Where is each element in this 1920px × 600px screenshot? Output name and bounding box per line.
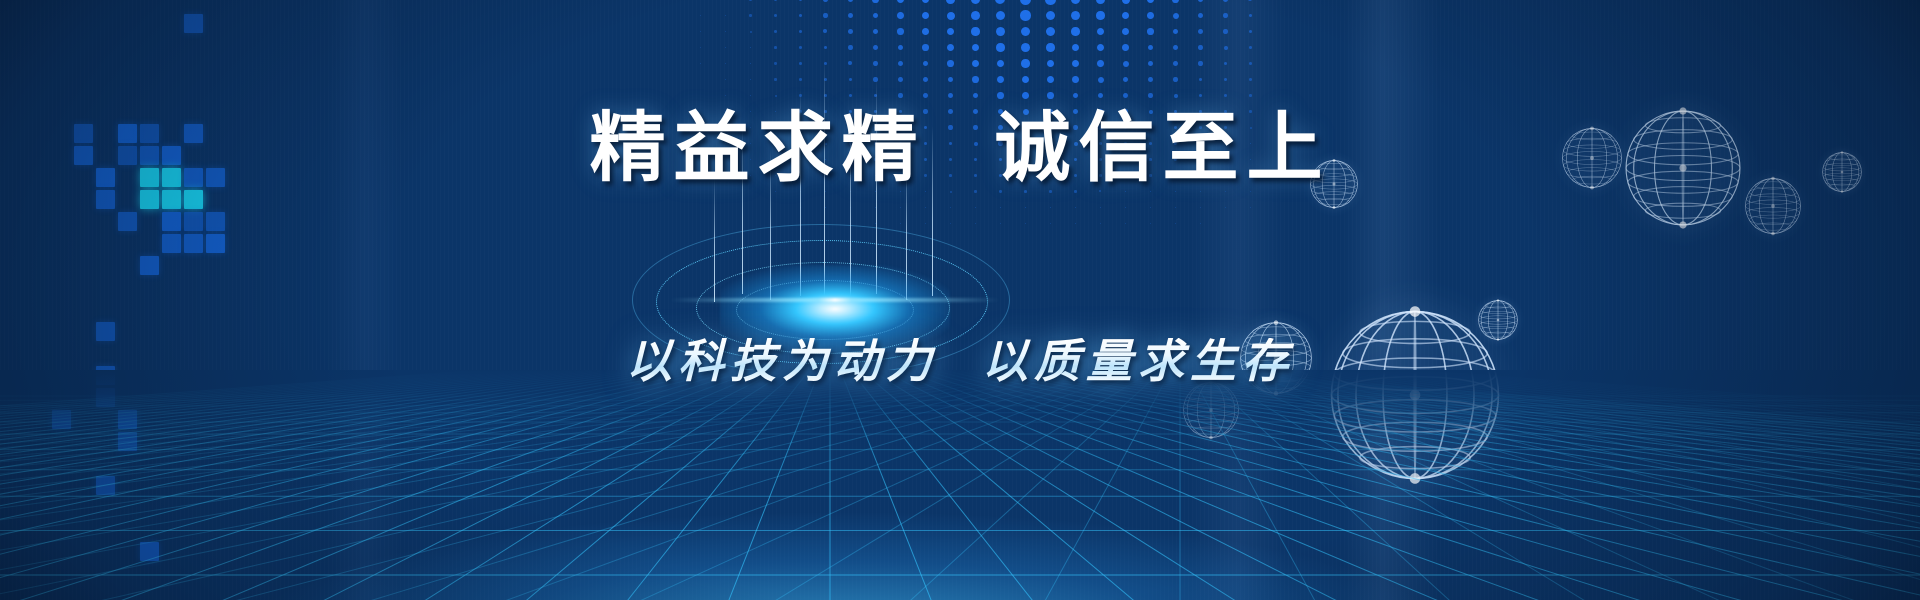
hero-banner: 精益求精 诚信至上 以科技为动力 以质量求生存: [0, 0, 1920, 600]
perspective-grid-floor: [0, 370, 1920, 600]
page-title: 精益求精 诚信至上: [0, 110, 1920, 186]
wireframe-globe: [1478, 300, 1518, 340]
page-subtitle: 以科技为动力 以质量求生存: [0, 338, 1920, 384]
wireframe-globe: [1745, 178, 1801, 234]
